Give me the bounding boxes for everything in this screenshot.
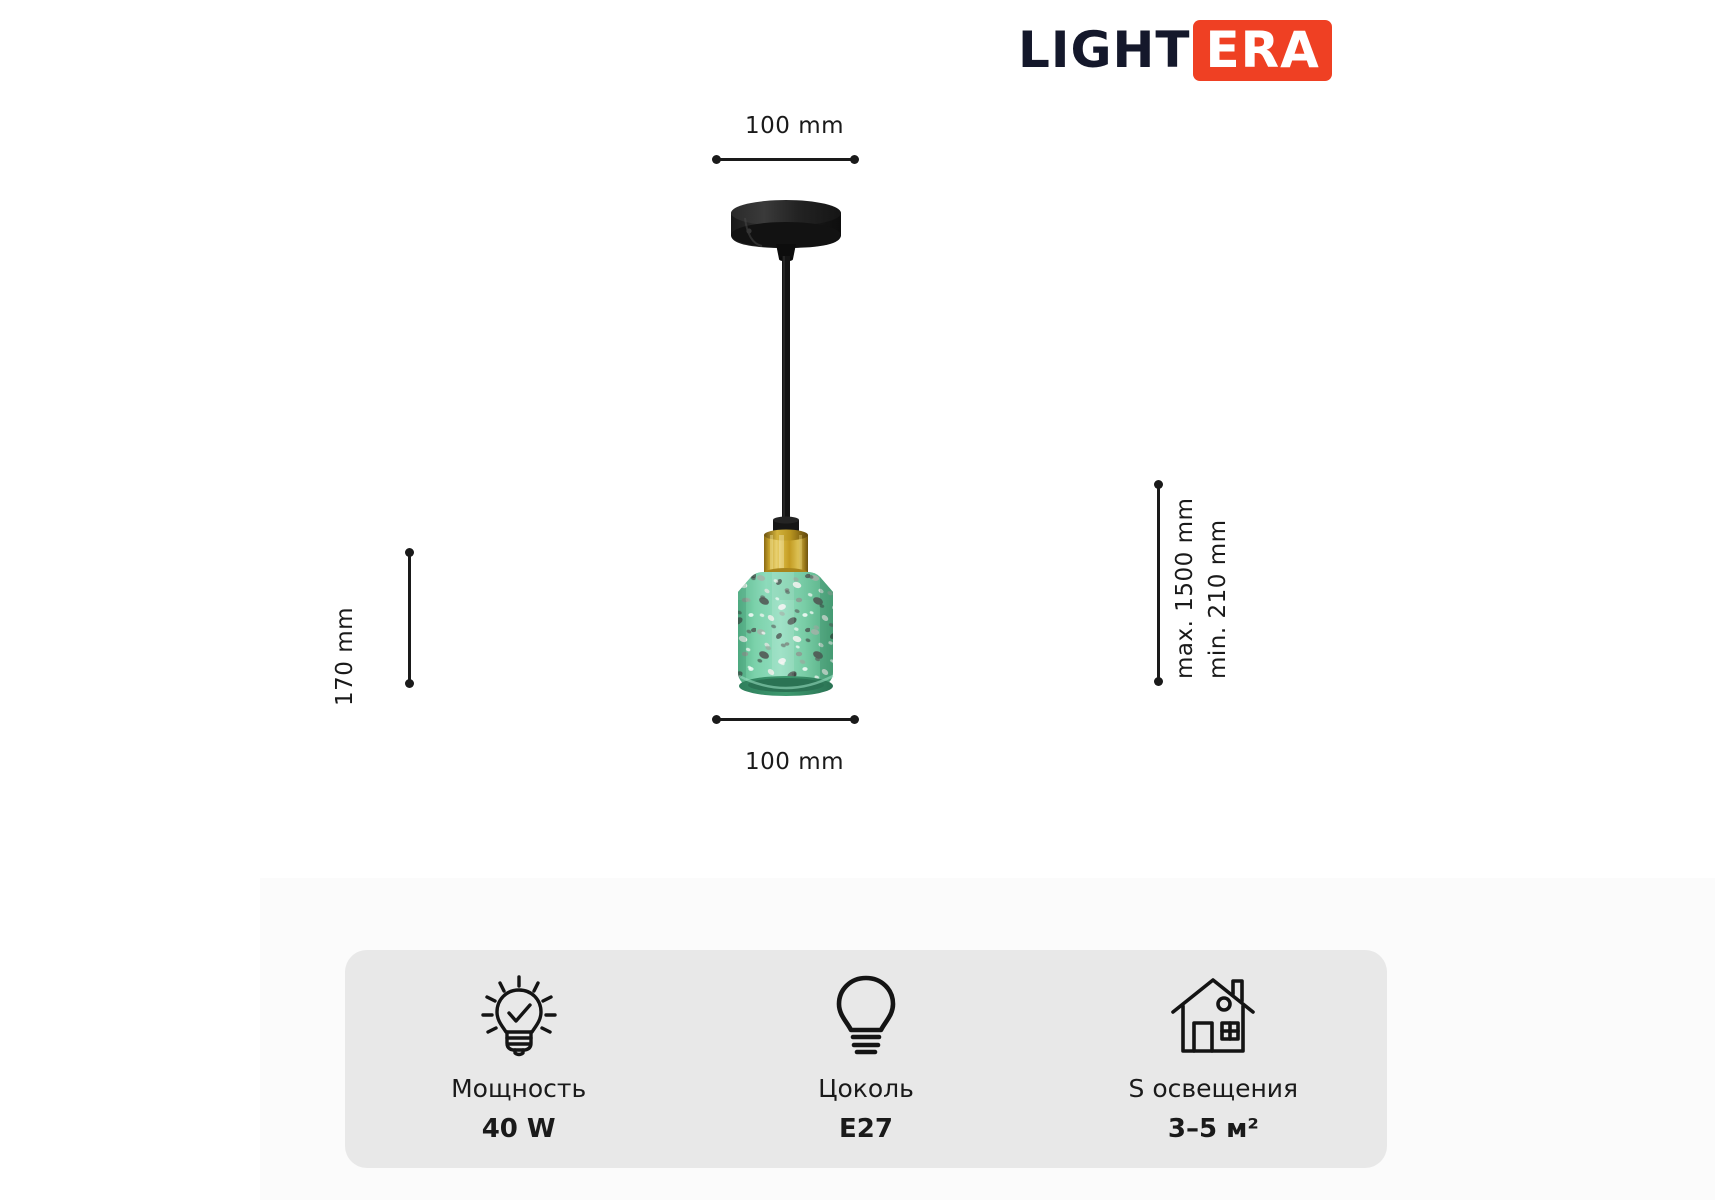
ceiling-canopy bbox=[731, 200, 841, 262]
specs-panel: Мощность 40 W Цоколь E27 bbox=[345, 950, 1387, 1168]
spec-value-power: 40 W bbox=[482, 1113, 556, 1147]
terrazzo-shade bbox=[730, 565, 845, 700]
spec-value-socket: E27 bbox=[839, 1113, 893, 1147]
spec-item-power: Мощность 40 W bbox=[345, 971, 692, 1146]
spec-item-socket: Цоколь E27 bbox=[692, 971, 1039, 1146]
spec-title-power: Мощность bbox=[451, 1073, 586, 1106]
house-icon bbox=[1167, 971, 1259, 1057]
bulb-check-icon bbox=[476, 971, 562, 1057]
spec-title-socket: Цоколь bbox=[818, 1073, 914, 1106]
spec-title-area: S освещения bbox=[1129, 1073, 1299, 1106]
brass-socket-holder bbox=[764, 530, 808, 579]
bulb-socket-icon bbox=[823, 971, 909, 1057]
spec-item-area: S освещения 3–5 м² bbox=[1040, 971, 1387, 1146]
spec-value-area: 3–5 м² bbox=[1168, 1113, 1259, 1147]
